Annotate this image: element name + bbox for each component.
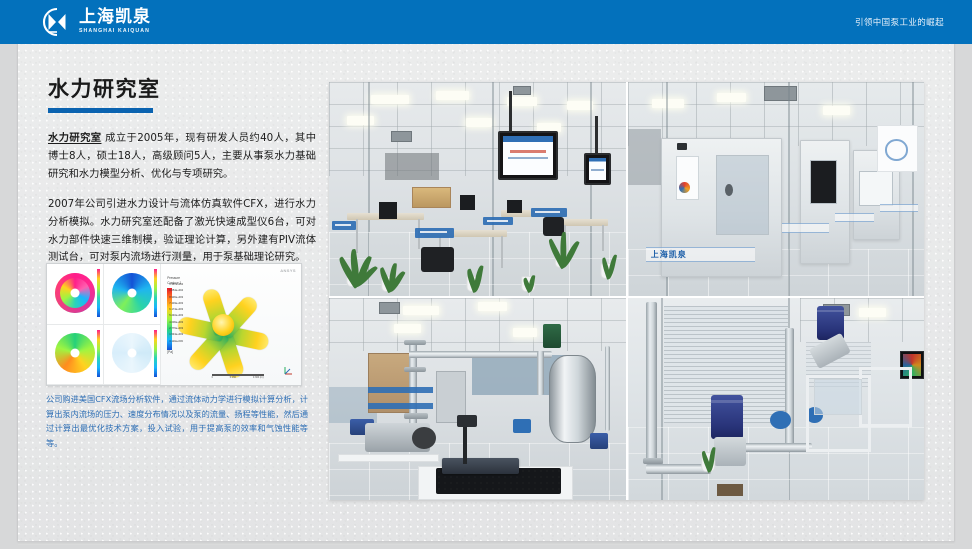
- paragraph-1: 水力研究室 成立于2005年，现有研发人员约40人，其中博士8人，硕士18人，高…: [48, 130, 316, 183]
- vertical-pipe: [537, 351, 544, 395]
- cfd-scale-label: 0.300 (m): [253, 376, 264, 379]
- pressure-vessel: [549, 355, 597, 444]
- cfd-panel-1: [47, 264, 104, 325]
- page-bottom-edge: [18, 541, 954, 545]
- impeller-contour-velocity-icon: [112, 273, 152, 313]
- potted-plant: [693, 403, 723, 472]
- page-header: 上海凯泉 SHANGHAI KAIQUAN 引领中国泵工业的崛起: [0, 0, 972, 44]
- glass-brand-strip: 上海凯泉: [646, 247, 756, 262]
- colorbar-2: [154, 269, 157, 317]
- ceiling-vent: [513, 86, 531, 95]
- photo-pump-test-loop[interactable]: [628, 298, 924, 500]
- ceiling-vent: [379, 302, 400, 314]
- monitor: [507, 200, 522, 213]
- piv-laser-unit: [442, 458, 519, 474]
- cfd-legend-ticks: 6.187e+0041.054e+0048.936e+0037.403e+003…: [169, 282, 183, 345]
- pipe-flange: [404, 340, 426, 345]
- impeller-contour-streamline-icon: [55, 333, 95, 373]
- equipment-frame: [859, 367, 912, 428]
- kaiquan-circle-monogram-icon: [42, 7, 72, 37]
- fume-hood: [628, 129, 661, 185]
- wall-poster: [877, 125, 918, 172]
- cfd-scale-label: 0.150: [230, 376, 236, 379]
- slide-root: 上海凯泉 SHANGHAI KAIQUAN 引领中国泵工业的崛起 水力研究室 水…: [0, 0, 972, 549]
- brand-name-en: SHANGHAI KAIQUAN: [79, 29, 151, 34]
- colorbar-1: [97, 269, 100, 317]
- side-pipe: [605, 346, 610, 431]
- header-tagline: 引领中国泵工业的崛起: [855, 0, 944, 44]
- auxiliary-pump: [590, 433, 608, 449]
- glass-brand-strip: [782, 223, 829, 233]
- potted-plant: [371, 206, 407, 292]
- cfd-scale-bar: 00.1500.300 (m): [212, 374, 264, 379]
- glass-brand-strip: [880, 204, 918, 212]
- ansys-watermark: ANSYS: [280, 268, 296, 273]
- potted-plant: [590, 206, 623, 279]
- cfd-legend-tick: 3.110e+003: [169, 339, 183, 345]
- blue-rack: [368, 387, 433, 393]
- blue-rack: [368, 403, 433, 409]
- monitor: [460, 195, 475, 210]
- cfd-contour-panels: [47, 264, 161, 385]
- potted-plant: [540, 183, 582, 269]
- glass-brand-strip: [835, 213, 873, 222]
- photo-grid: 上海凯泉: [329, 82, 924, 500]
- impeller-contour-pressure-icon: [55, 273, 95, 313]
- photo-rapid-prototyping-machines[interactable]: 上海凯泉: [628, 82, 924, 296]
- paragraph-2: 2007年公司引进水力设计与流体仿真软件CFX，进行水力分析模拟。水力研究室还配…: [48, 196, 316, 267]
- impeller-3d-render: [178, 279, 270, 371]
- potted-plant: [457, 215, 490, 292]
- cfd-panel-4: [104, 325, 161, 386]
- photo-office-lab[interactable]: [329, 82, 626, 296]
- pipe-flange: [404, 367, 426, 372]
- test-bench: [338, 454, 439, 462]
- desk-divider-panel: [415, 228, 454, 239]
- ceiling-vent: [391, 131, 412, 142]
- machine-info-poster: [676, 156, 699, 200]
- impeller-contour-vector-icon: [112, 333, 152, 373]
- left-content-column: 水力研究室 水力研究室 成立于2005年，现有研发人员约40人，其中博士8人，硕…: [48, 78, 316, 267]
- vertical-riser-pipe: [785, 328, 794, 445]
- hand-valve: [770, 411, 791, 429]
- paragraph-1-lead: 水力研究室: [48, 132, 101, 144]
- rapid-prototyping-machine: [800, 140, 850, 264]
- pipe-flange: [404, 413, 428, 419]
- title-underline: [48, 108, 153, 113]
- cfd-3d-rotor-view: ANSYS Pressure Contour 1 [Pa]: [161, 264, 301, 385]
- cfd-legend-tick: 5.240e+003: [169, 313, 183, 319]
- potted-plant: [513, 245, 543, 292]
- ceiling-vent: [764, 86, 797, 101]
- cfd-legend-tick: 1.054e+004: [169, 288, 183, 294]
- colorbar-3: [97, 330, 100, 378]
- colorbar-4: [154, 330, 157, 378]
- cfd-scale-labels: 00.1500.300 (m): [212, 376, 264, 379]
- brand-logo-text: 上海凯泉 SHANGHAI KAIQUAN: [79, 9, 151, 34]
- cfd-caption: 公司购进美国CFX流场分析软件，通过流体动力学进行模拟计算分析，计算出泵内流场的…: [46, 392, 308, 450]
- large-vertical-pipe: [646, 302, 657, 460]
- back-partition: [385, 153, 438, 181]
- page-title: 水力研究室: [48, 78, 316, 101]
- transparent-tank: [814, 379, 861, 415]
- impeller-hub: [213, 314, 235, 336]
- laser-mast: [463, 423, 467, 463]
- office-chair: [421, 247, 454, 273]
- flow-meter: [513, 419, 531, 433]
- cfd-panel-3: [47, 325, 104, 386]
- horizontal-pipe: [409, 351, 552, 358]
- pipe-flange: [643, 458, 663, 464]
- cfd-impeller-analysis-figure: ANSYS Pressure Contour 1 [Pa]: [46, 263, 302, 386]
- cfd-legend-tick: 8.936e+003: [169, 295, 183, 301]
- glass-brand-strip-label: 上海凯泉: [646, 249, 687, 260]
- brand-logo[interactable]: 上海凯泉 SHANGHAI KAIQUAN: [42, 7, 151, 37]
- wall-monitor: [584, 153, 611, 185]
- cfd-panel-2: [104, 264, 161, 325]
- presentation-screen: [498, 131, 557, 180]
- axis-triad-icon: [282, 364, 294, 376]
- wood-cabinet: [412, 187, 451, 208]
- brand-name-cn: 上海凯泉: [79, 9, 151, 26]
- cfd-scale-label: 0: [212, 376, 213, 379]
- photo-piv-test-rig[interactable]: [329, 298, 626, 500]
- pump-base: [717, 484, 744, 496]
- cfd-legend-tick: 1.543e+003: [169, 332, 183, 338]
- valve-actuator: [543, 324, 561, 348]
- piv-camera: [457, 415, 478, 427]
